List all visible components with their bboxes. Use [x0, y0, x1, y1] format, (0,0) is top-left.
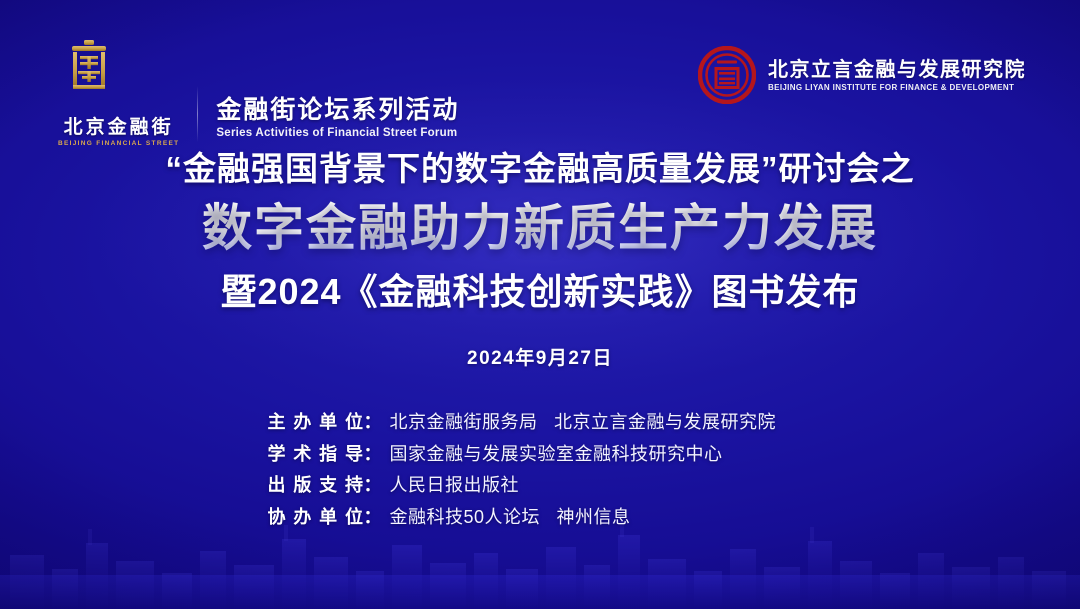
credit-row: 学术指导 ： 国家金融与发展实验室金融科技研究中心: [268, 444, 813, 466]
credit-colon: ：: [364, 412, 390, 434]
liyan-institute-text: 北京立言金融与发展研究院 BEIJING LIYAN INSTITUTE FOR…: [768, 57, 1026, 93]
credit-row: 协办单位 ： 金融科技50人论坛 神州信息: [268, 507, 813, 529]
credit-value: 国家金融与发展实验室金融科技研究中心: [390, 444, 813, 466]
credit-value: 金融科技50人论坛 神州信息: [390, 507, 813, 529]
forum-title-en: Series Activities of Financial Street Fo…: [216, 127, 459, 140]
credit-colon: ：: [364, 444, 390, 466]
title-line-3: 暨2024《金融科技创新实践》图书发布: [0, 270, 1080, 313]
title-line-1: “金融强国背景下的数字金融高质量发展”研讨会之: [0, 148, 1080, 190]
financial-street-name-en: BEIJING FINANCIAL STREET: [58, 141, 179, 148]
credit-row: 主办单位 ： 北京金融街服务局 北京立言金融与发展研究院: [268, 412, 813, 434]
liyan-institute-logo: 北京立言金融与发展研究院 BEIJING LIYAN INSTITUTE FOR…: [698, 46, 1026, 104]
liyan-name-cn: 北京立言金融与发展研究院: [768, 59, 1026, 82]
financial-street-logo: 北京金融街 BEIJING FINANCIAL STREET 金融街论坛系列活动…: [58, 40, 459, 148]
financial-street-seal-icon: [58, 40, 120, 118]
poster-header: 北京金融街 BEIJING FINANCIAL STREET 金融街论坛系列活动…: [0, 0, 1080, 132]
credit-label: 出版支持: [268, 475, 364, 497]
forum-title-cn: 金融街论坛系列活动: [216, 96, 459, 124]
credit-value: 人民日报出版社: [390, 475, 813, 497]
credits-block: 主办单位 ： 北京金融街服务局 北京立言金融与发展研究院 学术指导 ： 国家金融…: [0, 412, 1080, 528]
logo-divider: [197, 86, 198, 142]
financial-street-name-cn: 北京金融街: [58, 118, 179, 137]
poster-stage: 北京金融街 BEIJING FINANCIAL STREET 金融街论坛系列活动…: [0, 0, 1080, 609]
financial-street-logo-left: 北京金融街 BEIJING FINANCIAL STREET: [58, 40, 179, 148]
liyan-seal-icon: [698, 46, 756, 104]
credit-colon: ：: [364, 507, 390, 529]
credit-label: 主办单位: [268, 412, 364, 434]
credit-row: 出版支持 ： 人民日报出版社: [268, 475, 813, 497]
title-line-2-main: 数字金融助力新质生产力发展: [0, 199, 1080, 258]
credit-value: 北京金融街服务局 北京立言金融与发展研究院: [390, 412, 813, 434]
title-block: “金融强国背景下的数字金融高质量发展”研讨会之 数字金融助力新质生产力发展 暨2…: [0, 148, 1080, 370]
credit-label: 学术指导: [268, 444, 364, 466]
liyan-name-en: BEIJING LIYAN INSTITUTE FOR FINANCE & DE…: [768, 84, 1026, 93]
skyline-ground-glow: [0, 575, 1080, 609]
forum-title-block: 金融街论坛系列活动 Series Activities of Financial…: [216, 96, 459, 148]
credit-colon: ：: [364, 475, 390, 497]
credit-label: 协办单位: [268, 507, 364, 529]
event-date: 2024年9月27日: [0, 343, 1080, 370]
